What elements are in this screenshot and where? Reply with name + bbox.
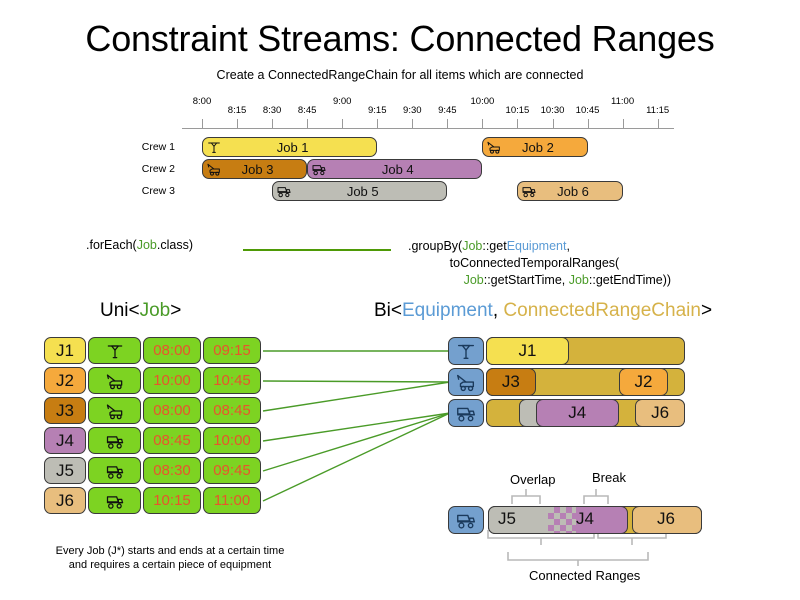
uni-job-header: Uni<Job> [100,300,181,322]
job-end-cell: 10:45 [203,367,261,394]
job-end-cell: 11:00 [203,487,261,514]
drill-icon [203,138,225,156]
tick-mark [517,119,518,128]
chain-segment[interactable]: J3 [486,368,536,396]
tick-label: 8:30 [263,105,282,116]
code-token: .groupBy( [408,239,462,253]
tick-label: 10:45 [576,105,600,116]
job-id-cell: J1 [44,337,86,364]
equipment-box[interactable] [448,337,484,365]
connector-line [263,413,450,501]
code-token: > [701,300,712,321]
footer-caption: Every Job (J*) starts and ends at a cert… [10,544,330,572]
code-line: Job::getStartTime, Job::getEndTime)) [408,272,671,289]
tick-mark [202,119,203,128]
job-end-cell: 08:45 [203,397,261,424]
chain-segment[interactable]: J6 [635,399,685,427]
job-id-cell: J3 [44,397,86,424]
dump-truck-icon [308,160,330,178]
dump-truck-icon [521,183,537,199]
dump-truck-icon [455,402,477,424]
tick-mark [272,119,273,128]
job-equipment-cell [88,367,141,394]
gantt-job-bar[interactable]: Job 4 [307,159,482,179]
tick-mark [447,119,448,128]
code-token: ConnectedRangeChain [503,300,701,321]
tick-mark [588,119,589,128]
tick-label: 11:00 [611,96,634,107]
crane-truck-icon [105,371,125,391]
job-equipment-cell [88,337,141,364]
tick-mark [377,119,378,128]
bracket [584,489,608,504]
gantt-job-bar[interactable]: Job 2 [482,137,587,157]
equipment-box[interactable] [448,368,484,396]
tick-label: 8:45 [298,105,317,116]
break-label: Break [592,470,626,485]
code-token: ::getStartTime, [484,273,569,287]
dump-truck-icon [273,182,295,200]
job-equipment-cell [88,427,141,454]
crane-truck-icon [483,138,505,156]
gantt-job-label: Job 4 [330,162,481,177]
code-token: ::getEndTime)) [589,273,671,287]
bracket [508,552,648,566]
chain-segment-label: J5 [498,509,516,529]
tick-label: 9:15 [368,105,387,116]
tick-label: 10:00 [471,96,495,107]
code-line: toConnectedTemporalRanges( [408,255,671,272]
tick-label: 9:30 [403,105,422,116]
caption-line-1: Every Job (J*) starts and ends at a cert… [10,544,330,558]
code-token: Bi< [374,300,402,321]
code-token: , [566,239,569,253]
gantt-job-label: Job 3 [225,162,306,177]
crane-truck-icon [203,160,225,178]
code-token: Job [137,238,157,252]
caption-line-2: and requires a certain piece of equipmen… [10,558,330,572]
code-token: .class) [157,238,193,252]
job-id-cell: J5 [44,457,86,484]
page-title: Constraint Streams: Connected Ranges [0,18,800,60]
code-connector-line [243,249,391,251]
tick-label: 11:15 [646,105,669,116]
crew-label: Crew 1 [115,141,175,153]
code-token: toConnectedTemporalRanges( [408,256,619,270]
code-token: Equipment [402,300,493,321]
connected-ranges-label: Connected Ranges [529,568,640,583]
gantt-job-label: Job 5 [295,184,446,199]
tick-mark [482,119,483,128]
crane-truck-icon [105,401,125,421]
connector-line [263,381,450,382]
drill-icon [105,341,125,361]
job-end-cell: 09:15 [203,337,261,364]
tick-mark [623,119,624,128]
gantt-job-bar[interactable]: Job 1 [202,137,377,157]
dump-truck-icon [518,182,540,200]
job-start-cell: 08:45 [143,427,201,454]
crew-label: Crew 2 [115,163,175,175]
job-id-cell: J6 [44,487,86,514]
crew-label: Crew 3 [115,185,175,197]
code-token: Uni< [100,300,140,321]
code-token: Job [140,300,171,321]
code-token: Job [569,273,589,287]
chain-segment-label: J6 [657,509,675,529]
foreach-code: .forEach(Job.class) [86,238,193,252]
gantt-job-label: Job 2 [505,140,586,155]
gantt-chart: 8:008:158:308:459:009:159:309:4510:0010:… [0,96,800,216]
gantt-job-label: Job 1 [225,140,376,155]
code-token: .forEach( [86,238,137,252]
drill-icon [455,340,477,362]
job-end-cell: 10:00 [203,427,261,454]
job-id-cell: J4 [44,427,86,454]
job-start-cell: 10:15 [143,487,201,514]
connector-line [263,413,450,471]
dump-truck-icon [311,161,327,177]
groupby-code: .groupBy(Job::getEquipment, toConnectedT… [408,238,671,289]
connector-line [263,413,450,441]
chain-segment-label: J4 [576,509,594,529]
chain-segment[interactable]: J1 [486,337,569,365]
crane-truck-icon [455,371,477,393]
dump-truck-icon [105,461,125,481]
tick-label: 9:00 [333,96,352,107]
code-token: Equipment [507,239,567,253]
crane-truck-icon [486,139,502,155]
tick-mark [658,119,659,128]
code-token: Job [464,273,484,287]
job-equipment-cell [88,457,141,484]
job-id-cell: J2 [44,367,86,394]
overlap-region [548,506,576,534]
chain-segment[interactable]: J2 [619,368,669,396]
tick-label: 9:45 [438,105,457,116]
gantt-job-bar[interactable]: Job 5 [272,181,447,201]
dump-truck-icon [276,183,292,199]
dump-truck-icon [105,431,125,451]
tick-mark [553,119,554,128]
job-end-cell: 09:45 [203,457,261,484]
gantt-job-bar[interactable]: Job 3 [202,159,307,179]
gantt-job-label: Job 6 [540,184,621,199]
crane-truck-icon [206,161,222,177]
code-token: Job [462,239,482,253]
tick-label: 8:15 [228,105,247,116]
chain-segment[interactable]: J4 [536,399,619,427]
job-start-cell: 08:00 [143,337,201,364]
job-equipment-cell [88,397,141,424]
tick-label: 8:00 [193,96,212,107]
tick-mark [342,119,343,128]
job-equipment-cell [88,487,141,514]
connector-line [263,382,450,411]
equipment-box[interactable] [448,399,484,427]
tick-label: 10:30 [541,105,565,116]
job-start-cell: 08:00 [143,397,201,424]
tick-mark [237,119,238,128]
drill-icon [206,139,222,155]
code-token [408,273,464,287]
code-token: , [493,300,504,321]
job-start-cell: 08:30 [143,457,201,484]
page-subtitle: Create a ConnectedRangeChain for all ite… [0,68,800,82]
dump-truck-icon [105,491,125,511]
code-token: ::get [482,239,506,253]
tick-label: 10:15 [506,105,530,116]
timeline-axis [182,128,674,129]
equipment-box[interactable] [448,506,484,534]
code-token: > [170,300,181,321]
dump-truck-icon [455,509,477,531]
overlap-label: Overlap [510,472,556,487]
bracket [512,489,540,504]
tick-mark [307,119,308,128]
gantt-job-bar[interactable]: Job 6 [517,181,622,201]
code-line: .groupBy(Job::getEquipment, [408,238,671,255]
tick-mark [412,119,413,128]
bi-equipment-header: Bi<Equipment, ConnectedRangeChain> [374,300,712,322]
job-start-cell: 10:00 [143,367,201,394]
